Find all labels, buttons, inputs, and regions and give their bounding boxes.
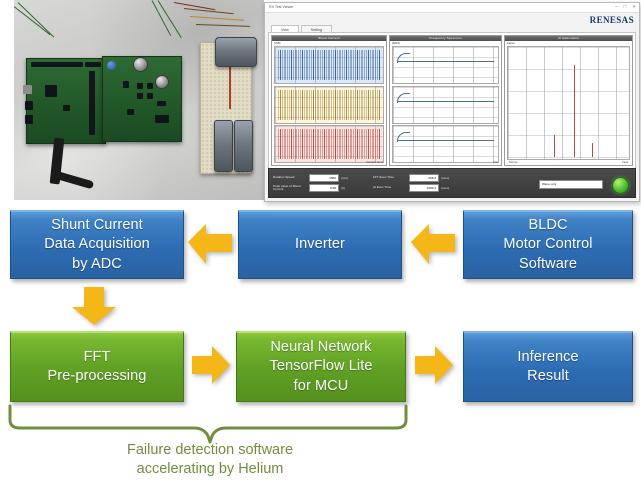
spectrum-trace-w — [397, 140, 494, 141]
box-line: Inverter — [243, 235, 397, 254]
panel-freq-xaxis: [Hz] — [493, 161, 498, 164]
arrow-down-icon — [66, 285, 122, 327]
top-photo-panel: RX Test Viewer – □ ✕ RENESAS View Settin… — [0, 0, 641, 202]
usb-connector — [23, 85, 32, 94]
display-mode-select[interactable]: Wave only — [539, 180, 603, 189]
panel-ai-yaxis: Failure — [507, 42, 515, 45]
minimize-icon[interactable]: – — [615, 4, 618, 10]
control-ai-exec-time-unit: [usec] — [441, 186, 449, 190]
gui-control-bar[interactable]: Rotation Speed 1500 [rpm] Peak value of … — [268, 168, 636, 198]
mosfet-2 — [147, 83, 153, 89]
maximize-icon[interactable]: □ — [624, 4, 627, 10]
spectrum-trace-u — [397, 61, 494, 62]
bracket-caption: Failure detection software accelerating … — [60, 441, 360, 479]
control-fft-exec-time-unit: [usec] — [441, 176, 449, 180]
box-line: for MCU — [241, 377, 401, 396]
motor-diagnostics-gui[interactable]: RX Test Viewer – □ ✕ RENESAS View Settin… — [264, 2, 640, 202]
close-icon[interactable]: ✕ — [632, 4, 636, 10]
waveform-phase-u — [278, 50, 380, 80]
box-line: BLDC — [468, 216, 628, 235]
box-shunt-current-adc-text: Shunt Current Data Acquisition by ADC — [11, 216, 183, 273]
arrow-inverter-to-adc — [186, 222, 234, 266]
mosfet-3 — [137, 93, 143, 99]
panel-ai-estimation-title: AI Estimation — [505, 36, 632, 41]
small-ic-1 — [63, 105, 70, 111]
motor-load-2 — [234, 120, 253, 172]
control-peak-shunt-current-value[interactable]: 0.58 — [309, 184, 339, 192]
pin-header-top — [31, 62, 83, 67]
panel-frequency-spectrum: Frequency Spectrum [dBFS] [Hz] — [389, 35, 502, 166]
terminal-block — [155, 115, 169, 123]
chart-ai-estimation — [507, 46, 630, 160]
box-line: Result — [468, 367, 628, 386]
caption-line: accelerating by Helium — [60, 460, 360, 479]
box-shunt-current-adc[interactable]: Shunt Current Data Acquisition by ADC — [10, 210, 184, 279]
box-line: Inference — [468, 348, 628, 367]
control-ai-exec-time-label: AI Exec Time — [373, 186, 407, 189]
box-line: by ADC — [15, 255, 179, 274]
board-connector-1 — [25, 101, 33, 110]
mosfet-1 — [137, 83, 143, 89]
box-inference-result[interactable]: Inference Result — [463, 331, 633, 402]
box-line: Data Acquisition — [15, 235, 179, 254]
box-bldc-text: BLDC Motor Control Software — [464, 216, 632, 273]
chart-shunt-phase-v — [274, 86, 384, 124]
box-nn-text: Neural Network TensorFlow Lite for MCU — [237, 338, 405, 395]
arrow-bldc-to-inverter — [409, 222, 457, 266]
arrow-left-icon — [409, 222, 457, 266]
control-rotation-speed[interactable]: Rotation Speed 1500 [rpm] — [273, 174, 348, 182]
box-line: Neural Network — [241, 338, 401, 357]
control-peak-shunt-current[interactable]: Peak value of Shunt Current 0.58 [A] — [273, 184, 345, 192]
panel-shunt-current: Shunt Current [LSB] [Sample Num] — [271, 35, 387, 166]
box-line: Software — [468, 255, 628, 274]
grouping-bracket — [4, 404, 414, 444]
electrolytic-cap-1 — [133, 57, 148, 72]
trimmer-potentiometer — [107, 61, 116, 70]
panel-shunt-yaxis: [LSB] — [274, 42, 280, 45]
box-inverter-text: Inverter — [239, 235, 401, 254]
mcu-chip — [45, 85, 57, 97]
control-ai-exec-time[interactable]: AI Exec Time 1080.4 [usec] — [373, 184, 449, 192]
box-fft-preprocessing[interactable]: FFT Pre-processing — [10, 331, 184, 402]
arrow-adc-to-fft — [66, 285, 122, 327]
box-inverter[interactable]: Inverter — [238, 210, 402, 279]
box-line: FFT — [15, 348, 179, 367]
arrow-fft-to-nn — [190, 344, 232, 386]
box-line: Shunt Current — [15, 216, 179, 235]
waveform-phase-v — [278, 90, 380, 120]
renesas-logo: RENESAS — [590, 15, 634, 25]
spectrum-trace-v — [397, 101, 494, 102]
pin-header-right — [89, 71, 95, 135]
panel-shunt-xaxis: [Sample Num] — [367, 161, 383, 164]
ai-spike-2 — [574, 65, 575, 157]
caption-line: Failure detection software — [60, 441, 360, 460]
gui-window-title: RX Test Viewer — [269, 5, 293, 9]
chart-shunt-phase-w — [274, 125, 384, 163]
box-inference-text: Inference Result — [464, 348, 632, 386]
control-peak-shunt-current-label: Peak value of Shunt Current — [273, 185, 307, 191]
control-peak-shunt-current-unit: [A] — [341, 186, 345, 190]
arrow-right-icon — [190, 344, 232, 386]
panel-ai-footer-left: Normal — [509, 161, 517, 164]
board-connector-2 — [25, 115, 33, 124]
bracket-icon — [4, 404, 414, 444]
control-fft-exec-time-label: FFT Exec Time — [373, 176, 407, 179]
box-fft-text: FFT Pre-processing — [11, 348, 183, 386]
gate-driver-ic — [123, 81, 129, 88]
control-rotation-speed-unit: [rpm] — [341, 176, 348, 180]
control-rotation-speed-value[interactable]: 1500 — [309, 174, 339, 182]
ai-spike-3 — [592, 143, 593, 157]
box-line: Pre-processing — [15, 367, 179, 386]
arrow-right-icon — [413, 344, 455, 386]
box-bldc-motor-control-software[interactable]: BLDC Motor Control Software — [463, 210, 633, 279]
panel-frequency-spectrum-title: Frequency Spectrum — [390, 36, 501, 41]
chart-spectrum-u — [392, 46, 499, 84]
run-button[interactable] — [612, 177, 629, 194]
shunt-resistor — [157, 101, 166, 106]
electrolytic-cap-2 — [155, 75, 169, 89]
pin-header-mid — [85, 62, 101, 67]
mcu-evaluation-board — [26, 58, 106, 144]
ai-spike-1 — [554, 135, 555, 157]
panel-freq-yaxis: [dBFS] — [392, 42, 400, 45]
motor-load-1 — [214, 120, 233, 172]
arrow-nn-to-inference — [413, 344, 455, 386]
control-ai-exec-time-value[interactable]: 1080.4 — [409, 184, 439, 192]
waveform-phase-w — [278, 129, 380, 159]
box-line: TensorFlow Lite — [241, 357, 401, 376]
control-fft-exec-time-value[interactable]: 268.3 — [409, 174, 439, 182]
panel-ai-footer-right: Fault — [622, 161, 628, 164]
chart-spectrum-w — [392, 125, 499, 163]
inverter-board — [102, 56, 182, 142]
bldc-motor — [215, 37, 257, 67]
arrow-left-icon — [186, 222, 234, 266]
box-line: Motor Control — [468, 235, 628, 254]
mosfet-4 — [147, 93, 153, 99]
gui-tab-content: Shunt Current [LSB] [Sample Num] Frequen… — [268, 32, 636, 169]
gui-window-buttons[interactable]: – □ ✕ — [615, 4, 636, 10]
chart-shunt-phase-u — [274, 46, 384, 84]
panel-shunt-current-title: Shunt Current — [272, 36, 386, 41]
box-neural-network-tflite-mcu[interactable]: Neural Network TensorFlow Lite for MCU — [236, 331, 406, 402]
panel-ai-estimation: AI Estimation Failure Normal Fault — [504, 35, 633, 166]
chart-spectrum-v — [392, 86, 499, 124]
control-rotation-speed-label: Rotation Speed — [273, 176, 307, 179]
control-fft-exec-time[interactable]: FFT Exec Time 268.3 [usec] — [373, 174, 449, 182]
hardware-photo — [14, 0, 264, 200]
gui-title-bar: RX Test Viewer – □ ✕ — [265, 3, 639, 13]
opamp-ic — [127, 109, 134, 115]
